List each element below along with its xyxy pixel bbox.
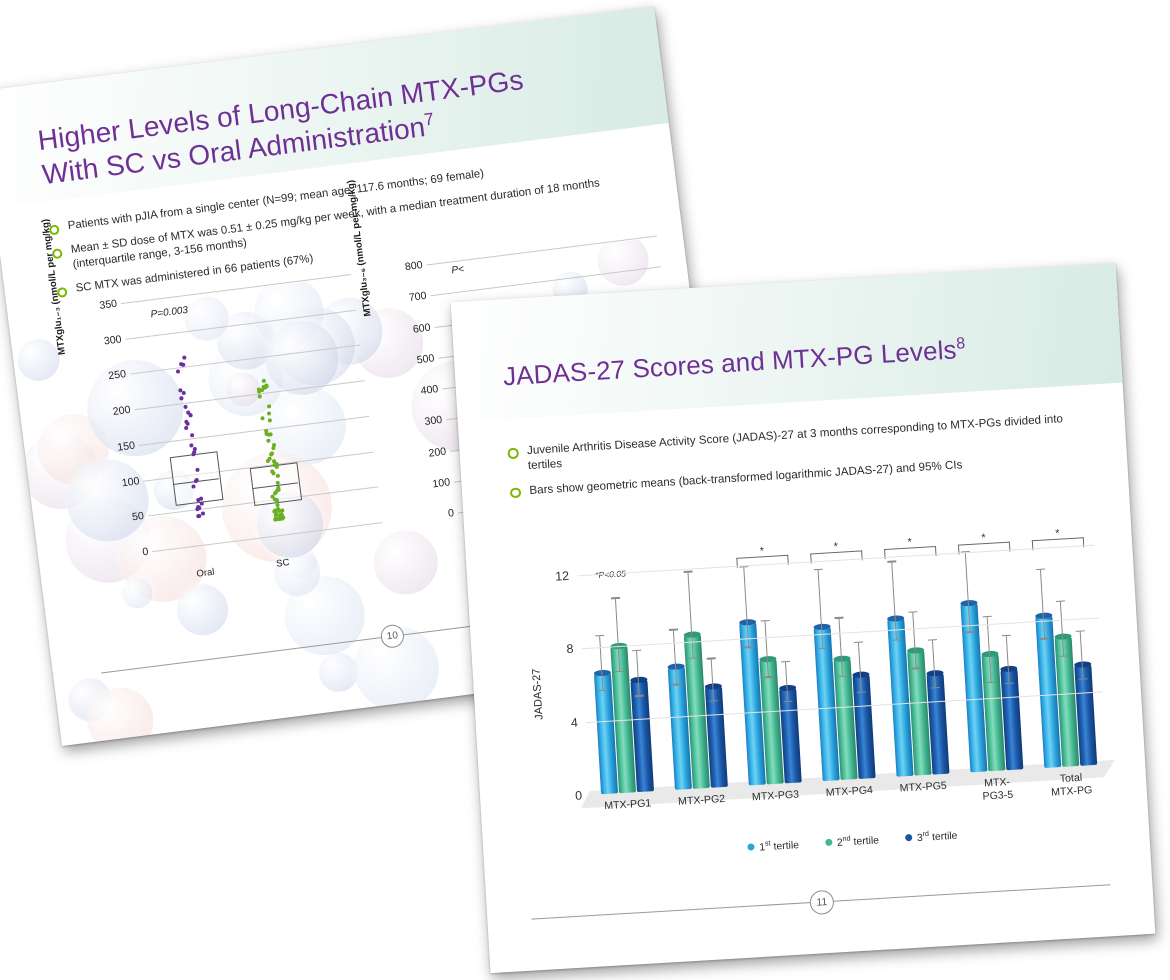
scatter-point: [176, 370, 180, 374]
scatter-point: [188, 413, 192, 417]
gridline: [152, 522, 382, 552]
scatter-point: [273, 517, 277, 521]
y-tick-label: 250: [108, 369, 127, 383]
bullet-ring-icon: [507, 448, 518, 459]
scatter-point: [196, 505, 200, 509]
jadas27-bar-chart: JADAS-27 04812 ***** *P<0.05 MTX-PG1MTX-…: [528, 526, 1117, 889]
legend-swatch-icon: [825, 838, 832, 845]
slide-deck-canvas: Higher Levels of Long-Chain MTX-PGs With…: [0, 0, 1170, 980]
x-tick-label: MTX-PG5: [886, 779, 961, 808]
significance-asterisk: *: [1055, 528, 1060, 540]
y-tick-label: 700: [408, 290, 427, 304]
slide2-bullet-list: Juvenile Arthritis Disease Activity Scor…: [507, 410, 1080, 508]
legend-item[interactable]: 3rd tertile: [904, 827, 957, 845]
y-tick-label: 800: [404, 259, 423, 273]
scatter1-x-tick-oral: Oral: [196, 567, 215, 580]
chart-bar-groups: [577, 545, 1107, 795]
scatter-point: [266, 432, 270, 436]
slide1-title-superscript: 7: [423, 109, 435, 130]
y-tick-label: 200: [112, 404, 131, 418]
bar-group: [651, 567, 738, 791]
legend-swatch-icon: [905, 834, 912, 841]
y-tick-label: 200: [428, 445, 447, 459]
error-bar-cap: [1002, 635, 1011, 637]
chart-plot-area: *P<0.05: [577, 545, 1107, 795]
error-bar-cap: [781, 661, 790, 663]
scatter-point: [281, 515, 285, 519]
scatter-point: [184, 426, 188, 430]
x-tick-label: MTX-PG3: [738, 788, 813, 817]
legend-label: 2nd tertile: [836, 832, 879, 849]
scatter-point: [197, 513, 201, 517]
scatter-point: [189, 443, 193, 447]
x-tick-label: MTX-PG4: [812, 783, 887, 812]
scatter-point: [199, 501, 203, 505]
y-tick-label: 100: [121, 475, 140, 489]
bar-group: [946, 549, 1033, 773]
scatter-plot-mtxglu1-3: MTXglu₁₋₃ (nmol/L per mg/kg) 05010015020…: [54, 274, 385, 577]
scatter-point: [276, 487, 280, 491]
chart-y-ticks: 04812: [539, 576, 582, 797]
chart-legend: 1st tertile2nd tertile3rd tertile: [593, 818, 1111, 863]
y-tick-label: 0: [142, 546, 149, 559]
gridline: [134, 380, 364, 410]
scatter-point: [267, 411, 271, 415]
scatter-point: [258, 394, 262, 398]
bullet-ring-icon: [510, 487, 521, 498]
legend-label: 3rd tertile: [916, 827, 957, 844]
error-bar-cap: [1076, 630, 1085, 632]
scatter-point: [182, 355, 186, 359]
scatter-point: [183, 405, 187, 409]
slide-jadas27-scores[interactable]: JADAS-27 Scores and MTX-PG Levels8 Juven…: [451, 263, 1156, 973]
error-bar-cap: [669, 629, 678, 631]
y-tick-label: 100: [432, 476, 451, 490]
x-tick-label: MTX- PG3-5: [960, 775, 1035, 804]
error-bar-cap: [611, 597, 620, 599]
y-tick-label: 500: [416, 352, 435, 366]
scatter-point: [264, 384, 268, 388]
significance-asterisk: *: [907, 536, 912, 548]
y-tick-label: 300: [103, 333, 122, 347]
error-bar-cap: [908, 611, 917, 613]
y-tick-label: 0: [447, 507, 454, 520]
scatter-point: [268, 418, 272, 422]
y-tick-label: 4: [570, 715, 578, 729]
slide2-page-number: 11: [809, 890, 834, 915]
x-tick-label: MTX-PG2: [664, 792, 739, 821]
bar-group: [799, 558, 886, 782]
scatter-point: [191, 484, 195, 488]
chart-y-axis-label: JADAS-27: [531, 668, 546, 720]
scatter-point: [266, 439, 270, 443]
legend-label: 1st tertile: [759, 837, 800, 854]
bar-group: [725, 562, 812, 786]
y-tick-label: 150: [117, 439, 136, 453]
error-bar-cap: [1036, 568, 1045, 570]
legend-swatch-icon: [747, 843, 754, 850]
scatter-point: [260, 416, 264, 420]
significance-asterisk: *: [759, 545, 764, 557]
y-tick-label: 8: [566, 642, 574, 656]
significance-asterisk: *: [833, 541, 838, 553]
gridline: [130, 345, 360, 375]
bar-group: [1020, 545, 1107, 769]
error-bar-cap: [684, 571, 693, 573]
y-tick-label: 350: [99, 298, 118, 312]
y-tick-label: 300: [424, 414, 443, 428]
x-tick-label: MTX-PG1: [590, 797, 665, 826]
legend-item[interactable]: 1st tertile: [747, 837, 800, 855]
scatter-point: [267, 404, 271, 408]
bar-group: [577, 571, 664, 795]
scatter2-pvalue-annotation: P<: [451, 264, 465, 276]
significance-asterisk: *: [981, 532, 986, 544]
error-bar-cap: [632, 649, 641, 651]
y-tick-label: 12: [555, 569, 570, 584]
bar-group: [873, 553, 960, 777]
y-tick-label: 0: [575, 788, 583, 802]
error-bar-cap: [835, 617, 844, 619]
scatter-point: [179, 396, 183, 400]
scatter1-x-tick-sc: SC: [276, 557, 290, 570]
error-bar-cap: [1056, 600, 1065, 602]
scatter-point: [184, 419, 188, 423]
error-bar-cap: [814, 569, 823, 571]
y-tick-label: 400: [420, 383, 439, 397]
legend-item[interactable]: 2nd tertile: [824, 832, 879, 850]
slide2-title-superscript: 8: [956, 334, 966, 353]
y-tick-label: 50: [131, 510, 144, 523]
error-bar-cap: [761, 620, 770, 622]
x-tick-label: Total MTX-PG: [1034, 770, 1109, 799]
y-tick-label: 600: [412, 321, 431, 335]
gridline: [139, 416, 369, 446]
scatter-point: [181, 391, 185, 395]
